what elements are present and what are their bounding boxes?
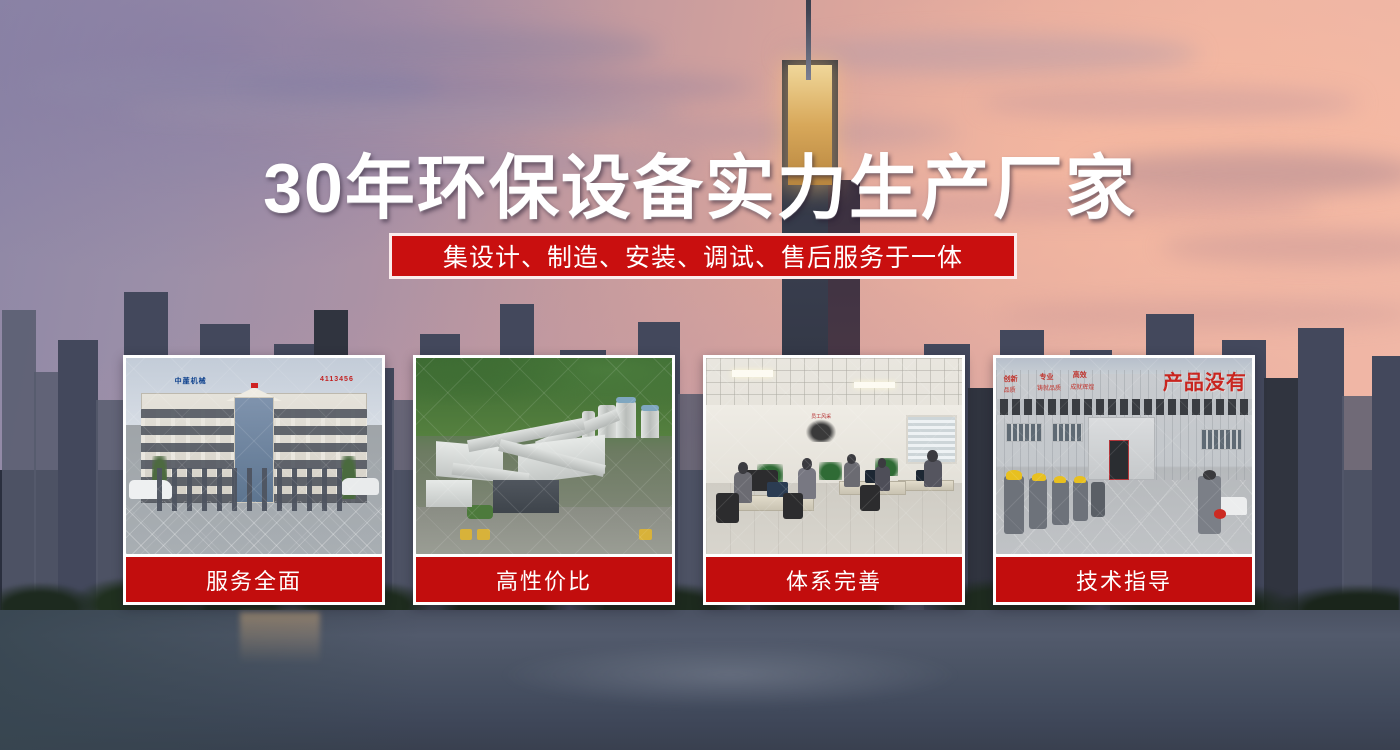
photo-wall-slogan-small: 专业 bbox=[1040, 372, 1054, 382]
photo-silo-cap bbox=[616, 397, 636, 403]
photo-red-helmet bbox=[1214, 509, 1227, 519]
photo-wall-slogan-small: 铸就品质 bbox=[1037, 383, 1061, 392]
card-label-guidance: 技术指导 bbox=[996, 554, 1252, 602]
photo-phone-number-text: 4113456 bbox=[320, 376, 354, 383]
photo-worker bbox=[1073, 480, 1088, 521]
photo-worker bbox=[1029, 478, 1047, 529]
photo-wall-slogan-small: 高效 bbox=[1073, 370, 1087, 380]
photo-person bbox=[924, 460, 942, 487]
card-label-service: 服务全面 bbox=[126, 554, 382, 602]
photo-plant-yard bbox=[416, 507, 672, 554]
photo-person-head bbox=[738, 462, 748, 474]
photo-hard-hat bbox=[1006, 470, 1021, 480]
subtitle-text: 集设计、制造、安装、调试、售后服务于一体 bbox=[443, 238, 963, 274]
photo-person-head bbox=[847, 454, 856, 464]
photo-hard-hat bbox=[1032, 473, 1046, 482]
photo-worker bbox=[1004, 476, 1024, 535]
photo-hard-hat bbox=[1074, 476, 1086, 484]
photo-warehouse-door bbox=[1109, 440, 1129, 479]
photo-silo bbox=[641, 409, 659, 438]
photo-worker bbox=[1091, 482, 1105, 517]
office-interior-staff-photo: 员工风采 bbox=[706, 358, 962, 554]
photo-window bbox=[1006, 423, 1042, 443]
feature-card-row: 中蓙机械 4113456 服务全面 bbox=[123, 355, 1279, 605]
office-building-with-staff-photo: 中蓙机械 4113456 bbox=[126, 358, 382, 554]
photo-wall-slogan-small: 成就辉煌 bbox=[1070, 382, 1094, 391]
photo-wall-decal-text: 员工风采 bbox=[803, 413, 839, 420]
photo-person-head bbox=[927, 450, 937, 462]
photo-excavator bbox=[477, 529, 490, 541]
photo-company-sign-text: 中蓙机械 bbox=[175, 376, 207, 386]
water-highlight bbox=[420, 630, 1040, 720]
photo-staff-row bbox=[157, 468, 352, 511]
photo-wall-slogan-small: 品质 bbox=[1004, 385, 1016, 394]
photo-dark-shed bbox=[493, 480, 560, 513]
feature-card-system[interactable]: 员工风采 bbox=[703, 355, 965, 605]
photo-wall-window-band bbox=[996, 399, 1252, 415]
subtitle-banner: 集设计、制造、安装、调试、售后服务于一体 bbox=[389, 233, 1017, 279]
photo-window bbox=[1052, 423, 1083, 443]
photo-office-chair bbox=[783, 493, 803, 518]
photo-plant-shed bbox=[426, 480, 472, 507]
photo-window bbox=[1201, 429, 1242, 451]
aerial-industrial-plant-photo bbox=[416, 358, 672, 554]
photo-person-head bbox=[878, 458, 887, 468]
photo-ceiling-grid bbox=[706, 358, 962, 405]
photo-hard-hat bbox=[1054, 476, 1067, 484]
photo-wall-decal bbox=[803, 417, 839, 442]
water-shadow-left bbox=[0, 610, 420, 750]
photo-worker bbox=[1052, 480, 1069, 525]
photo-office-chair bbox=[716, 493, 739, 522]
factory-workers-briefing-photo: 产品没有 创新 专业 高效 品质 铸就品质 成就辉煌 bbox=[996, 358, 1252, 554]
feature-card-guidance[interactable]: 产品没有 创新 专业 高效 品质 铸就品质 成就辉煌 bbox=[993, 355, 1255, 605]
water-light-reflection bbox=[240, 612, 320, 664]
photo-grass-patch bbox=[467, 505, 493, 519]
photo-supervisor-head bbox=[1203, 470, 1216, 480]
page-title: 30年环保设备实力生产厂家 bbox=[0, 132, 1400, 233]
photo-silo-cap bbox=[641, 405, 659, 411]
photo-wall-slogan-small: 创新 bbox=[1004, 374, 1018, 384]
card-label-value: 高性价比 bbox=[416, 554, 672, 602]
tower-spire bbox=[806, 0, 811, 80]
photo-ceiling-light bbox=[854, 382, 895, 389]
photo-excavator bbox=[639, 529, 652, 541]
photo-ceiling-light bbox=[732, 370, 773, 377]
card-label-system: 体系完善 bbox=[706, 554, 962, 602]
photo-supervisor bbox=[1198, 476, 1221, 535]
photo-person-head bbox=[802, 458, 812, 470]
photo-wall-slogan-large: 产品没有 bbox=[1163, 366, 1247, 395]
feature-card-value[interactable]: 高性价比 bbox=[413, 355, 675, 605]
photo-flag bbox=[251, 383, 258, 388]
feature-card-service[interactable]: 中蓙机械 4113456 服务全面 bbox=[123, 355, 385, 605]
photo-office-chair bbox=[860, 485, 880, 510]
promo-banner: 30年环保设备实力生产厂家 集设计、制造、安装、调试、售后服务于一体 中蓙机械 … bbox=[0, 0, 1400, 750]
photo-person bbox=[844, 462, 859, 487]
photo-potted-plant bbox=[819, 462, 842, 480]
photo-excavator bbox=[460, 529, 473, 541]
